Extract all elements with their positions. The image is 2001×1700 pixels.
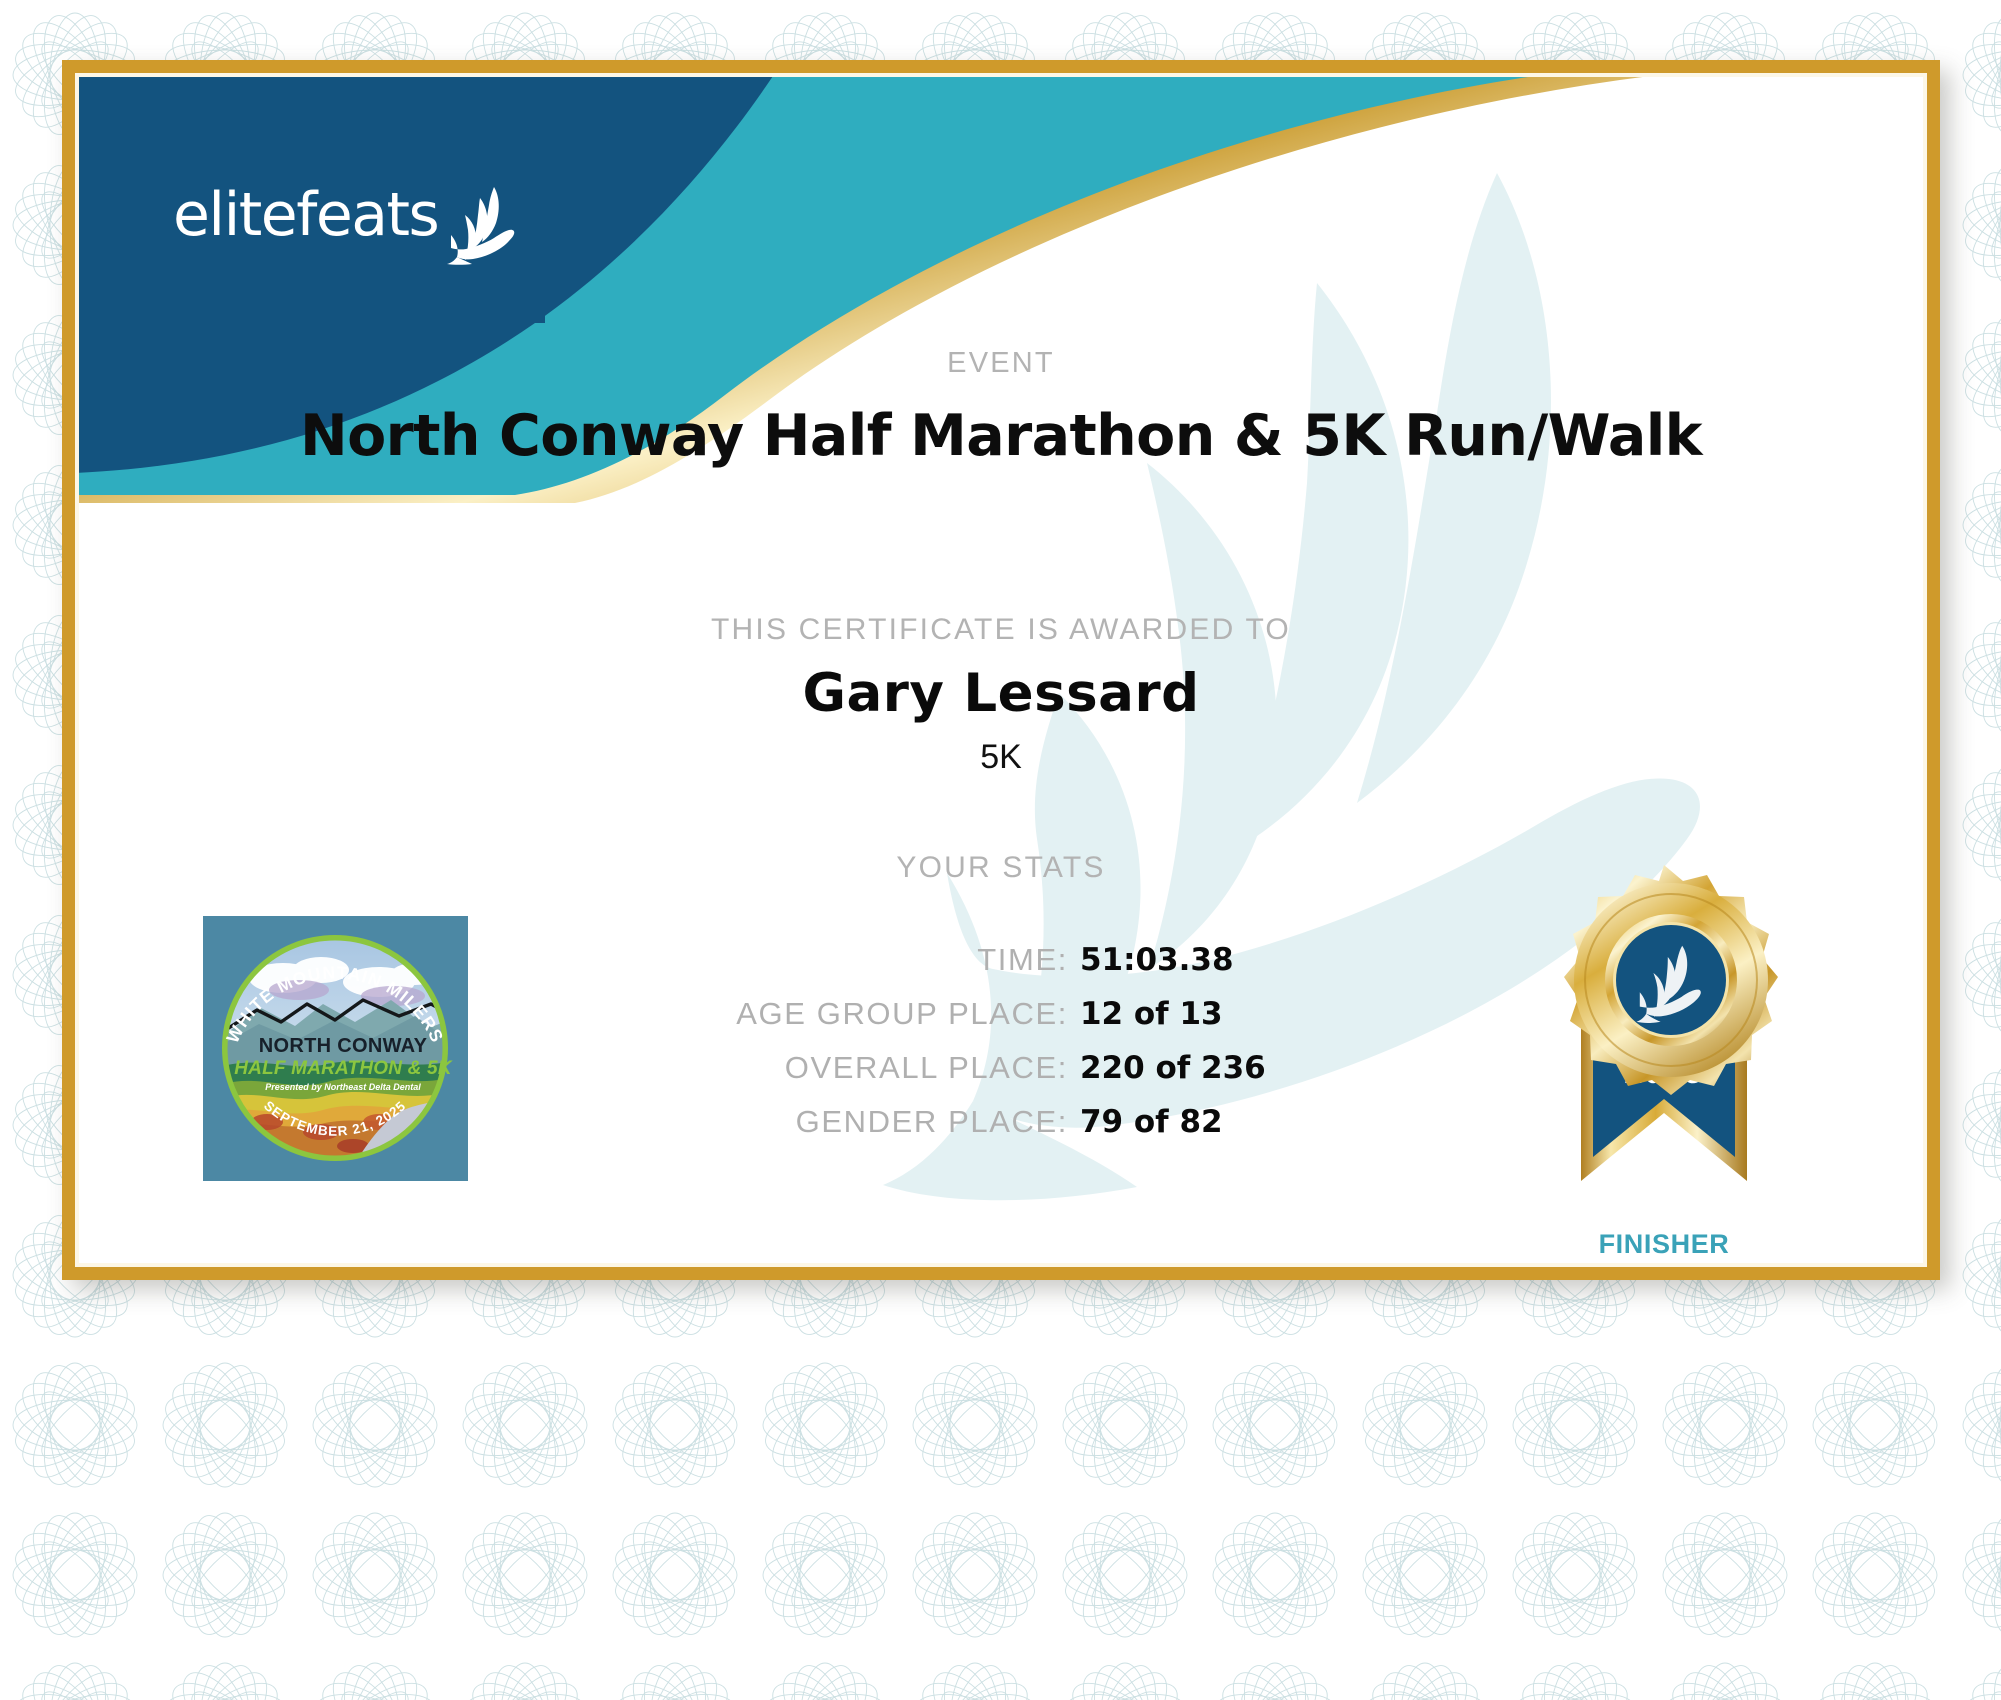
- winged-foot-icon: [442, 185, 516, 265]
- brand-wordmark: elitefeats: [173, 185, 438, 245]
- stats-table: TIME: 51:03.38 AGE GROUP PLACE: 12 of 13…: [736, 933, 1265, 1149]
- race-logo-line1: NORTH CONWAY: [259, 1035, 428, 1057]
- finisher-medal: 2025 FINISHER: [1519, 861, 1809, 1280]
- stat-label-overall-place: OVERALL PLACE:: [736, 1041, 1080, 1095]
- medal-caption-line1: FINISHER: [1519, 1229, 1809, 1260]
- table-row: OVERALL PLACE: 220 of 236: [736, 1041, 1265, 1095]
- event-kicker-label: EVENT: [75, 347, 1927, 380]
- race-logo: WHITE MOUNTAIN MILERS SEPTEMBER 21, 2025…: [203, 916, 468, 1181]
- table-row: AGE GROUP PLACE: 12 of 13: [736, 987, 1265, 1041]
- stat-value-overall-place: 220 of 236: [1080, 1041, 1266, 1095]
- stat-value-gender-place: 79 of 82: [1080, 1095, 1266, 1149]
- medal-caption-line2: CERTIFICATE: [1519, 1260, 1809, 1280]
- stat-label-gender-place: GENDER PLACE:: [736, 1095, 1080, 1149]
- awarded-to-label: THIS CERTIFICATE IS AWARDED TO: [75, 613, 1927, 647]
- stat-label-age-group-place: AGE GROUP PLACE:: [736, 987, 1080, 1041]
- recipient-event-distance: 5K: [75, 738, 1927, 777]
- medal-caption: FINISHER CERTIFICATE: [1519, 1229, 1809, 1280]
- table-row: GENDER PLACE: 79 of 82: [736, 1095, 1265, 1149]
- medal-rosette-graphic: 2025: [1519, 861, 1809, 1231]
- race-logo-line2: HALF MARATHON & 5K: [234, 1058, 453, 1079]
- brand-logo: elitefeats: [173, 185, 516, 265]
- recipient-name: Gary Lessard: [75, 663, 1927, 724]
- race-logo-line3: Presented by Northeast Delta Dental: [265, 1082, 421, 1092]
- event-title: North Conway Half Marathon & 5K Run/Walk: [75, 403, 1927, 469]
- stat-value-time: 51:03.38: [1080, 933, 1266, 987]
- stat-label-time: TIME:: [736, 933, 1080, 987]
- stat-value-age-group-place: 12 of 13: [1080, 987, 1266, 1041]
- medal-rosette: [1564, 865, 1778, 1095]
- certificate-card: elitefeats EVENT North Conway Half Marat…: [62, 60, 1940, 1280]
- table-row: TIME: 51:03.38: [736, 933, 1265, 987]
